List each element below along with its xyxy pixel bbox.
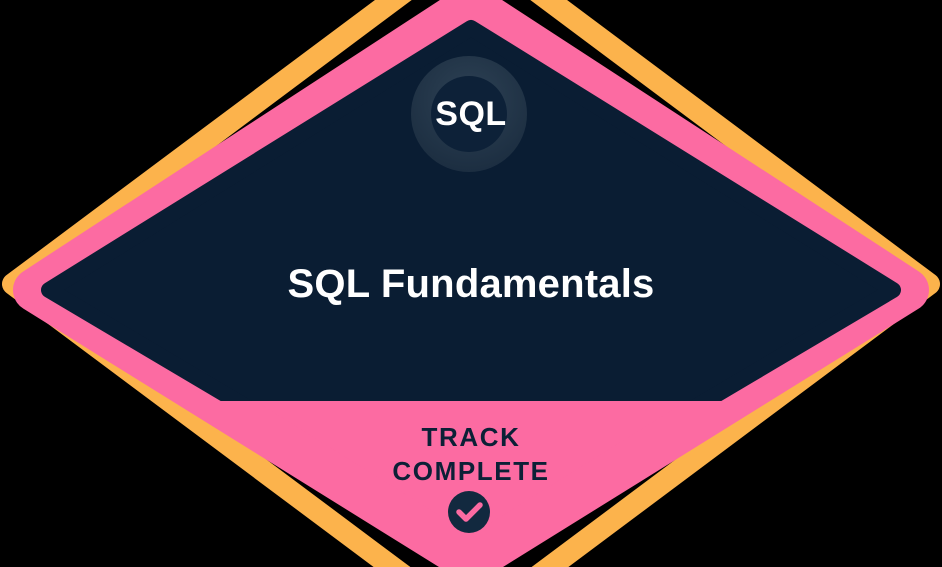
check-badge-circle xyxy=(448,491,490,533)
emblem-inner-disc xyxy=(431,76,507,152)
track-completion-badge: SQL SQL Fundamentals TRACK COMPLETE xyxy=(0,0,942,567)
badge-graphic xyxy=(0,0,942,567)
